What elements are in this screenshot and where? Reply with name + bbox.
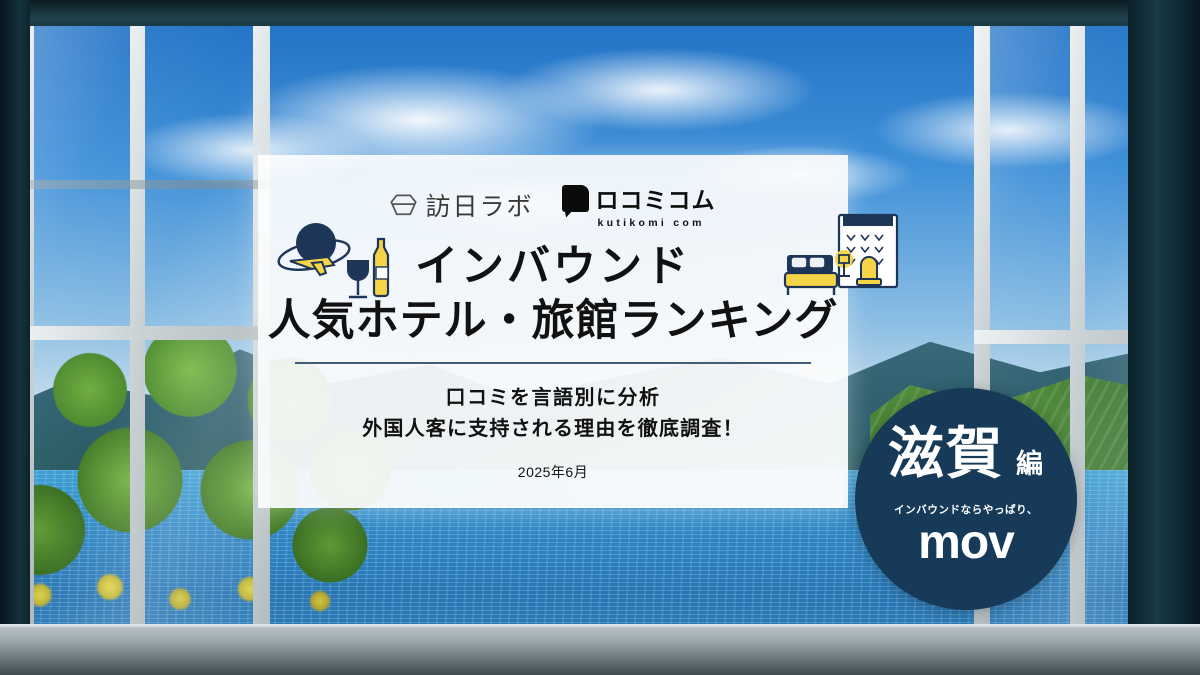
publish-date: 2025年6月	[258, 462, 848, 482]
window-left-casement	[18, 0, 270, 675]
honichi-lab-wordmark: 訪日ラボ	[425, 187, 533, 223]
window-sill	[0, 627, 1200, 675]
prefecture-name: 滋賀	[888, 426, 1004, 482]
honichi-lab-logo[interactable]: 訪日ラボ	[390, 187, 533, 223]
title-divider	[295, 362, 811, 364]
interior-wall-right	[1128, 0, 1200, 675]
kutikomi-logo[interactable]: ロコミコム kutikomi com	[562, 181, 716, 229]
ceiling-band	[0, 0, 1200, 26]
prefecture-badge: 滋賀 編 インバウンドならやっぱり、 mov	[855, 388, 1077, 610]
interior-wall-left	[0, 0, 30, 675]
subtitle-line-2: 外国人客に支持される理由を徹底調査！	[258, 414, 848, 445]
content-card: 訪日ラボ ロコミコム kutikomi com	[258, 155, 848, 508]
speech-bubble-icon	[562, 185, 589, 212]
kutikomi-subtext: kutikomi com	[598, 217, 705, 229]
title-line-2: 人気ホテル・旅館ランキング	[258, 296, 848, 348]
title-block: インバウンド 人気ホテル・旅館ランキング	[258, 243, 848, 348]
kutikomi-wordmark: ロコミコム	[596, 181, 716, 215]
edition-suffix: 編	[1016, 442, 1044, 481]
title-line-1: インバウンド	[258, 243, 848, 292]
slide-canvas: 訪日ラボ ロコミコム kutikomi com	[0, 0, 1200, 675]
subtitle-line-1: 口コミを言語別に分析	[258, 383, 848, 414]
prefecture-label: 滋賀 編	[888, 426, 1044, 482]
mov-brand-logo: mov	[918, 519, 1014, 567]
mov-tagline: インバウンドならやっぱり、	[894, 502, 1038, 517]
